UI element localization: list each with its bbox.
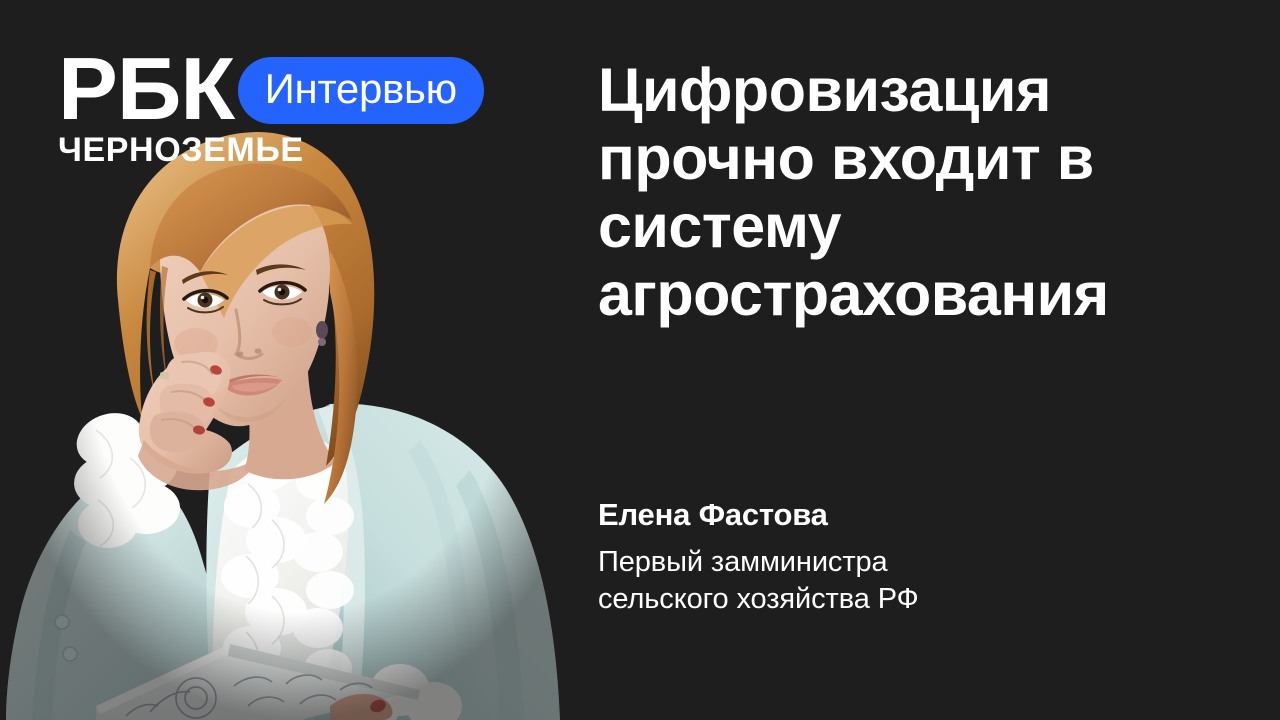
speaker-role: Первый замминистра сельского хозяйства Р…	[598, 544, 1218, 618]
speaker-name: Елена Фастова	[598, 496, 1218, 533]
region-label: ЧЕРНОЗЕМЬЕ	[58, 133, 484, 167]
headline-title: Цифровизация прочно входит в систему агр…	[598, 56, 1248, 328]
brand-row: РБК Интервью	[58, 50, 484, 127]
rbk-logo: РБК	[58, 50, 234, 127]
interview-card: РБК Интервью ЧЕРНОЗЕМЬЕ Цифровизация про…	[0, 0, 1280, 720]
interview-badge: Интервью	[238, 57, 484, 124]
brand-lockup: РБК Интервью ЧЕРНОЗЕМЬЕ	[58, 50, 484, 167]
speaker-caption: Елена Фастова Первый замминистра сельско…	[598, 496, 1218, 618]
